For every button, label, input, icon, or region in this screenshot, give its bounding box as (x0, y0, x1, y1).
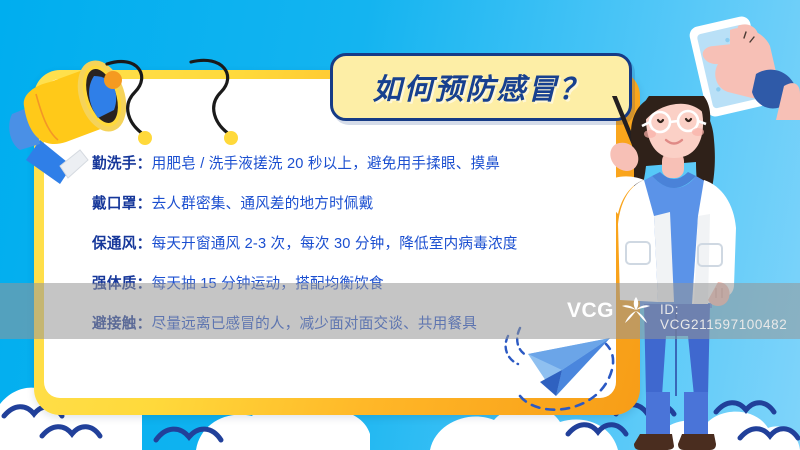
tip-text: 每天开窗通风 2-3 次，每次 30 分钟，降低室内病毒浓度 (152, 236, 518, 252)
tip-text: 每天抽 15 分钟运动，搭配均衡饮食 (152, 276, 384, 292)
tip-label: 避接触： (92, 316, 152, 332)
tip-label: 强体质： (92, 276, 152, 292)
female-doctor-illustration (600, 96, 800, 450)
tip-label: 保通风： (92, 236, 152, 252)
spring-coil-decoration (95, 58, 265, 163)
page-title: 如何预防感冒？ (330, 53, 632, 121)
tip-row: 强体质：每天抽 15 分钟运动，搭配均衡饮食 (92, 264, 592, 304)
poster-canvas: 勤洗手：用肥皂 / 洗手液搓洗 20 秒以上，避免用手揉眼、摸鼻 戴口罩：去人群… (0, 0, 800, 450)
tip-row: 保通风：每天开窗通风 2-3 次，每次 30 分钟，降低室内病毒浓度 (92, 224, 592, 264)
page-title-text: 如何预防感冒？ (372, 66, 589, 108)
tip-row: 戴口罩：去人群密集、通风差的地方时佩戴 (92, 184, 592, 224)
tips-list: 勤洗手：用肥皂 / 洗手液搓洗 20 秒以上，避免用手揉眼、摸鼻 戴口罩：去人群… (92, 144, 592, 344)
tip-text: 尽量远离已感冒的人，减少面对面交谈、共用餐具 (152, 316, 477, 332)
tip-text: 去人群密集、通风差的地方时佩戴 (152, 196, 374, 212)
